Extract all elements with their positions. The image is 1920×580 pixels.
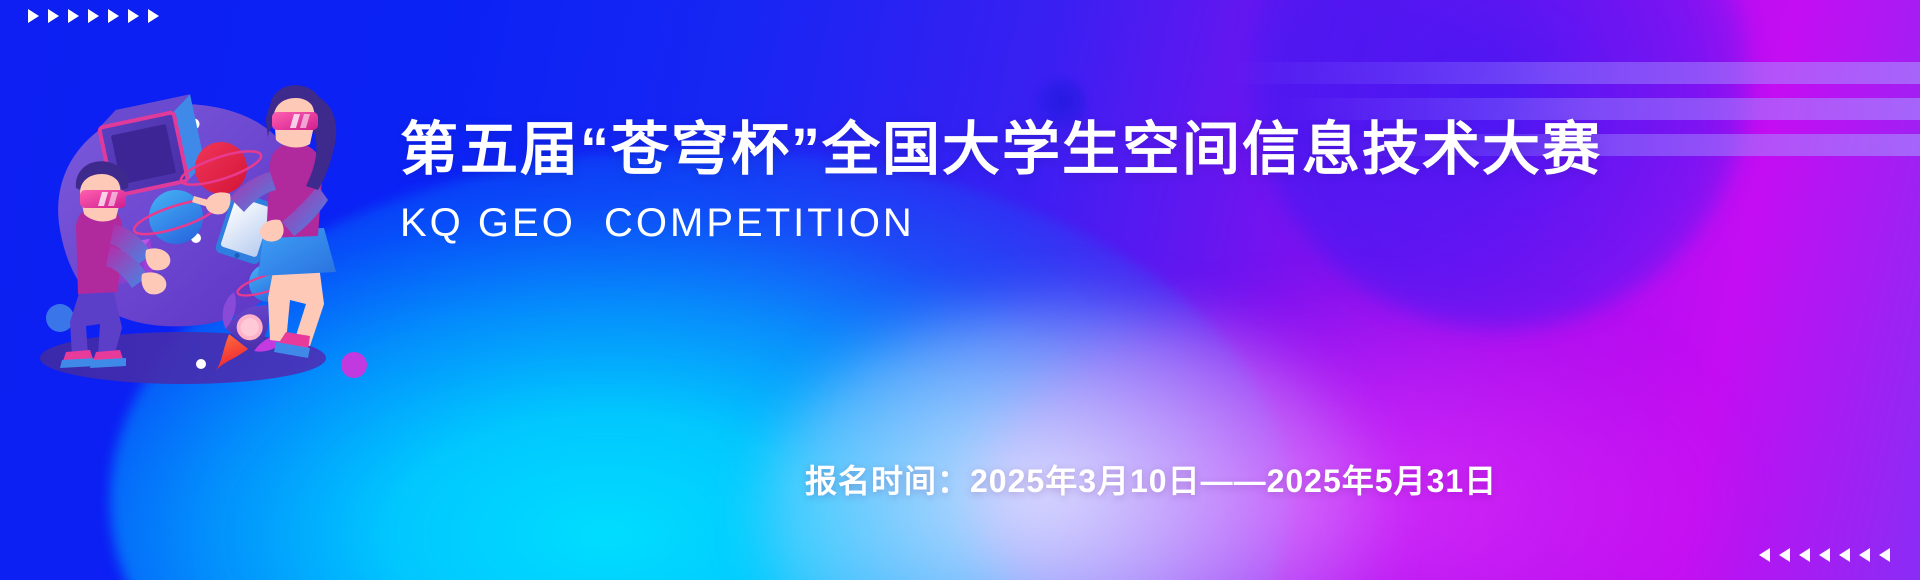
arrow-right-icon	[148, 9, 159, 23]
top-left-arrow-strip	[28, 9, 159, 23]
banner-text-block: 第五届“苍穹杯”全国大学生空间信息技术大赛 KQ GEO COMPETITION	[400, 118, 1900, 246]
arrow-left-icon	[1799, 548, 1810, 562]
banner-title-en: KQ GEO COMPETITION	[400, 201, 1900, 246]
white-bloom-decoration	[760, 300, 1380, 580]
bottom-right-arrow-strip	[1759, 548, 1890, 562]
arrow-left-icon	[1759, 548, 1770, 562]
banner-title-cn: 第五届“苍穹杯”全国大学生空间信息技术大赛	[400, 118, 1900, 183]
magenta-glow-decoration	[980, 290, 1740, 580]
arrow-right-icon	[28, 9, 39, 23]
arrow-left-icon	[1819, 548, 1830, 562]
arrow-left-icon	[1859, 548, 1870, 562]
arrow-left-icon	[1839, 548, 1850, 562]
arrow-right-icon	[68, 9, 79, 23]
arrow-left-icon	[1879, 548, 1890, 562]
arrow-right-icon	[108, 9, 119, 23]
vr-students-space-illustration	[18, 60, 358, 390]
arrow-right-icon	[88, 9, 99, 23]
arrow-left-icon	[1779, 548, 1790, 562]
arrow-right-icon	[128, 9, 139, 23]
stripe-line	[1230, 62, 1920, 84]
arrow-right-icon	[48, 9, 59, 23]
registration-date-text: 报名时间：2025年3月10日——2025年5月31日	[805, 456, 1497, 502]
competition-banner: 第五届“苍穹杯”全国大学生空间信息技术大赛 KQ GEO COMPETITION…	[0, 0, 1920, 580]
